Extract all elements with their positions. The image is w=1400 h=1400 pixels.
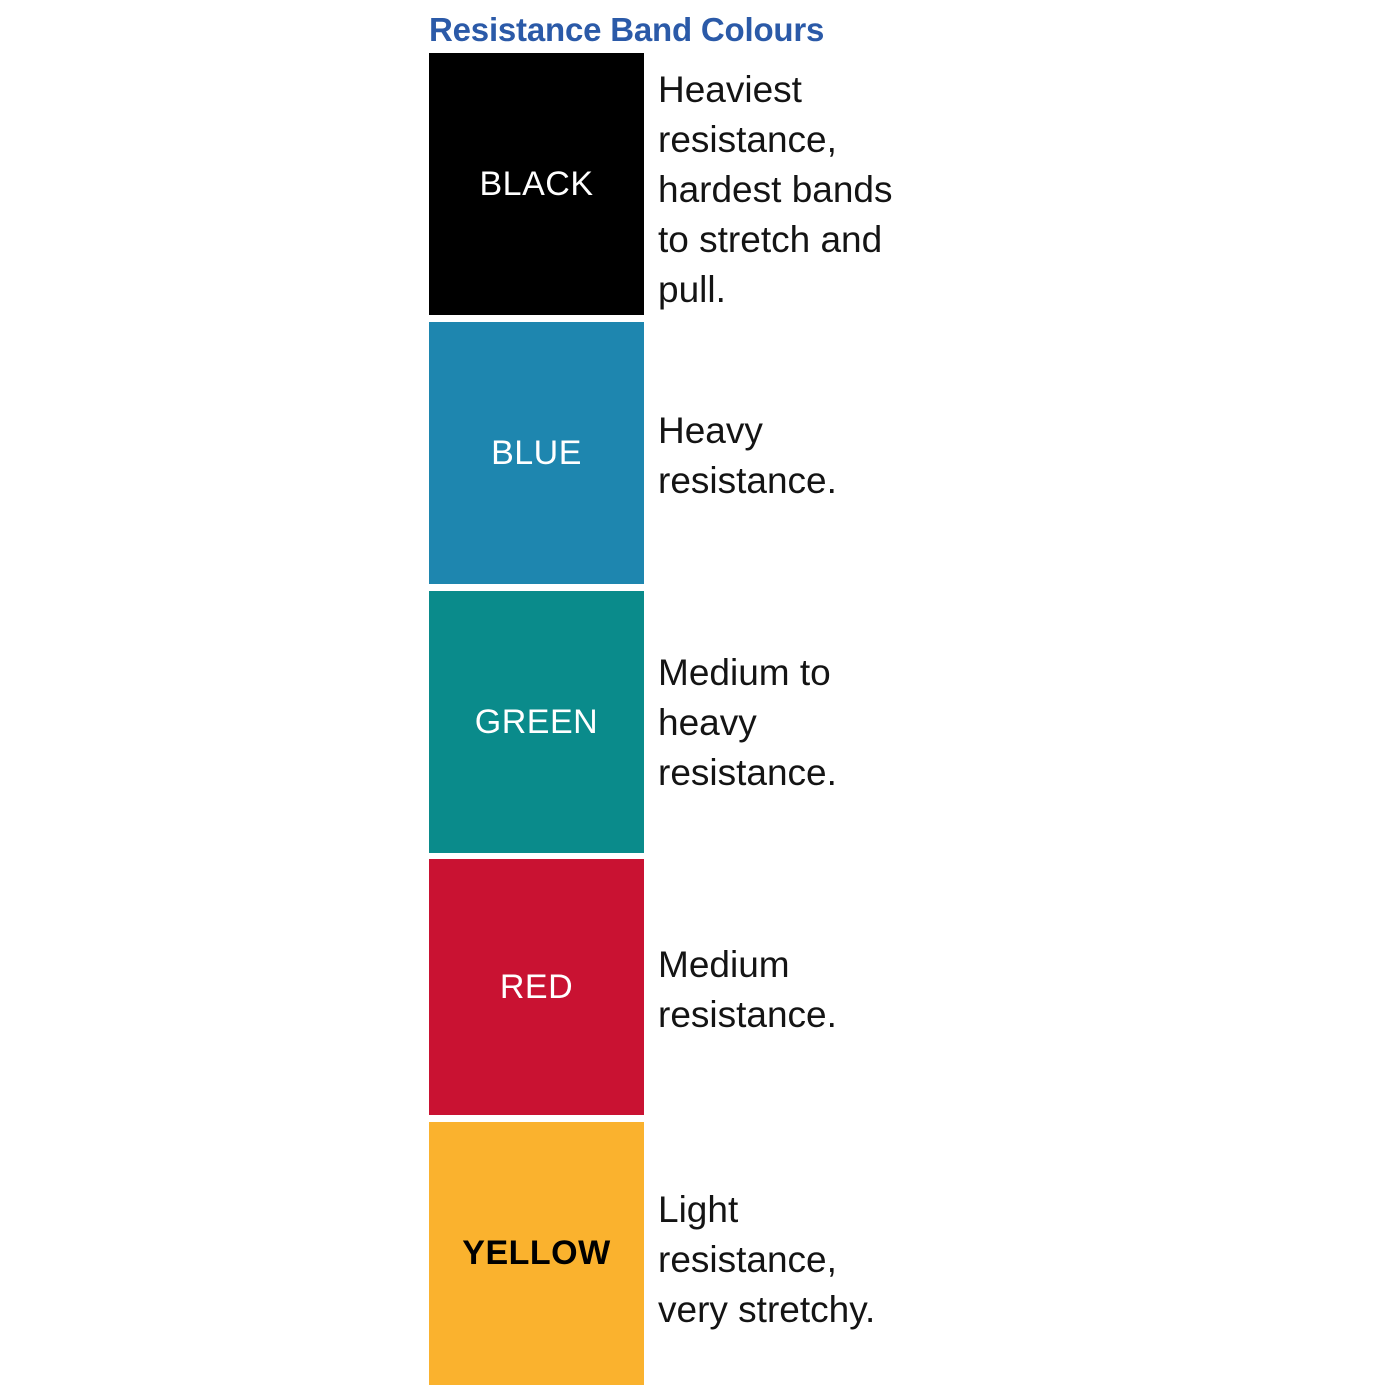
swatch-label-yellow: YELLOW — [462, 1234, 610, 1273]
swatch-green: GREEN — [429, 591, 644, 853]
swatch-label-red: RED — [500, 968, 573, 1007]
swatch-black: BLACK — [429, 53, 644, 315]
difficulty-scale: ADVANCED BEGINNER — [900, 0, 1010, 1400]
swatch-label-black: BLACK — [480, 165, 594, 204]
band-row-yellow: YELLOW Light resistance, very stretchy. — [429, 1122, 889, 1385]
swatch-red: RED — [429, 859, 644, 1115]
band-row-red: RED Medium resistance. — [429, 859, 889, 1115]
swatch-label-green: GREEN — [475, 703, 598, 742]
resistance-band-chart: Resistance Band Colours BLACK Heaviest r… — [0, 0, 1400, 1400]
swatch-yellow: YELLOW — [429, 1122, 644, 1385]
band-description-black: Heaviest resistance, hardest bands to st… — [658, 65, 898, 315]
band-row-blue: BLUE Heavy resistance. — [429, 322, 889, 584]
band-description-green: Medium to heavy resistance. — [658, 648, 898, 798]
band-description-blue: Heavy resistance. — [658, 406, 898, 506]
swatch-label-blue: BLUE — [491, 434, 582, 473]
band-description-red: Medium resistance. — [658, 940, 898, 1040]
swatch-blue: BLUE — [429, 322, 644, 584]
band-description-yellow: Light resistance, very stretchy. — [658, 1185, 898, 1335]
band-row-black: BLACK Heaviest resistance, hardest bands… — [429, 53, 889, 315]
band-row-green: GREEN Medium to heavy resistance. — [429, 591, 889, 853]
